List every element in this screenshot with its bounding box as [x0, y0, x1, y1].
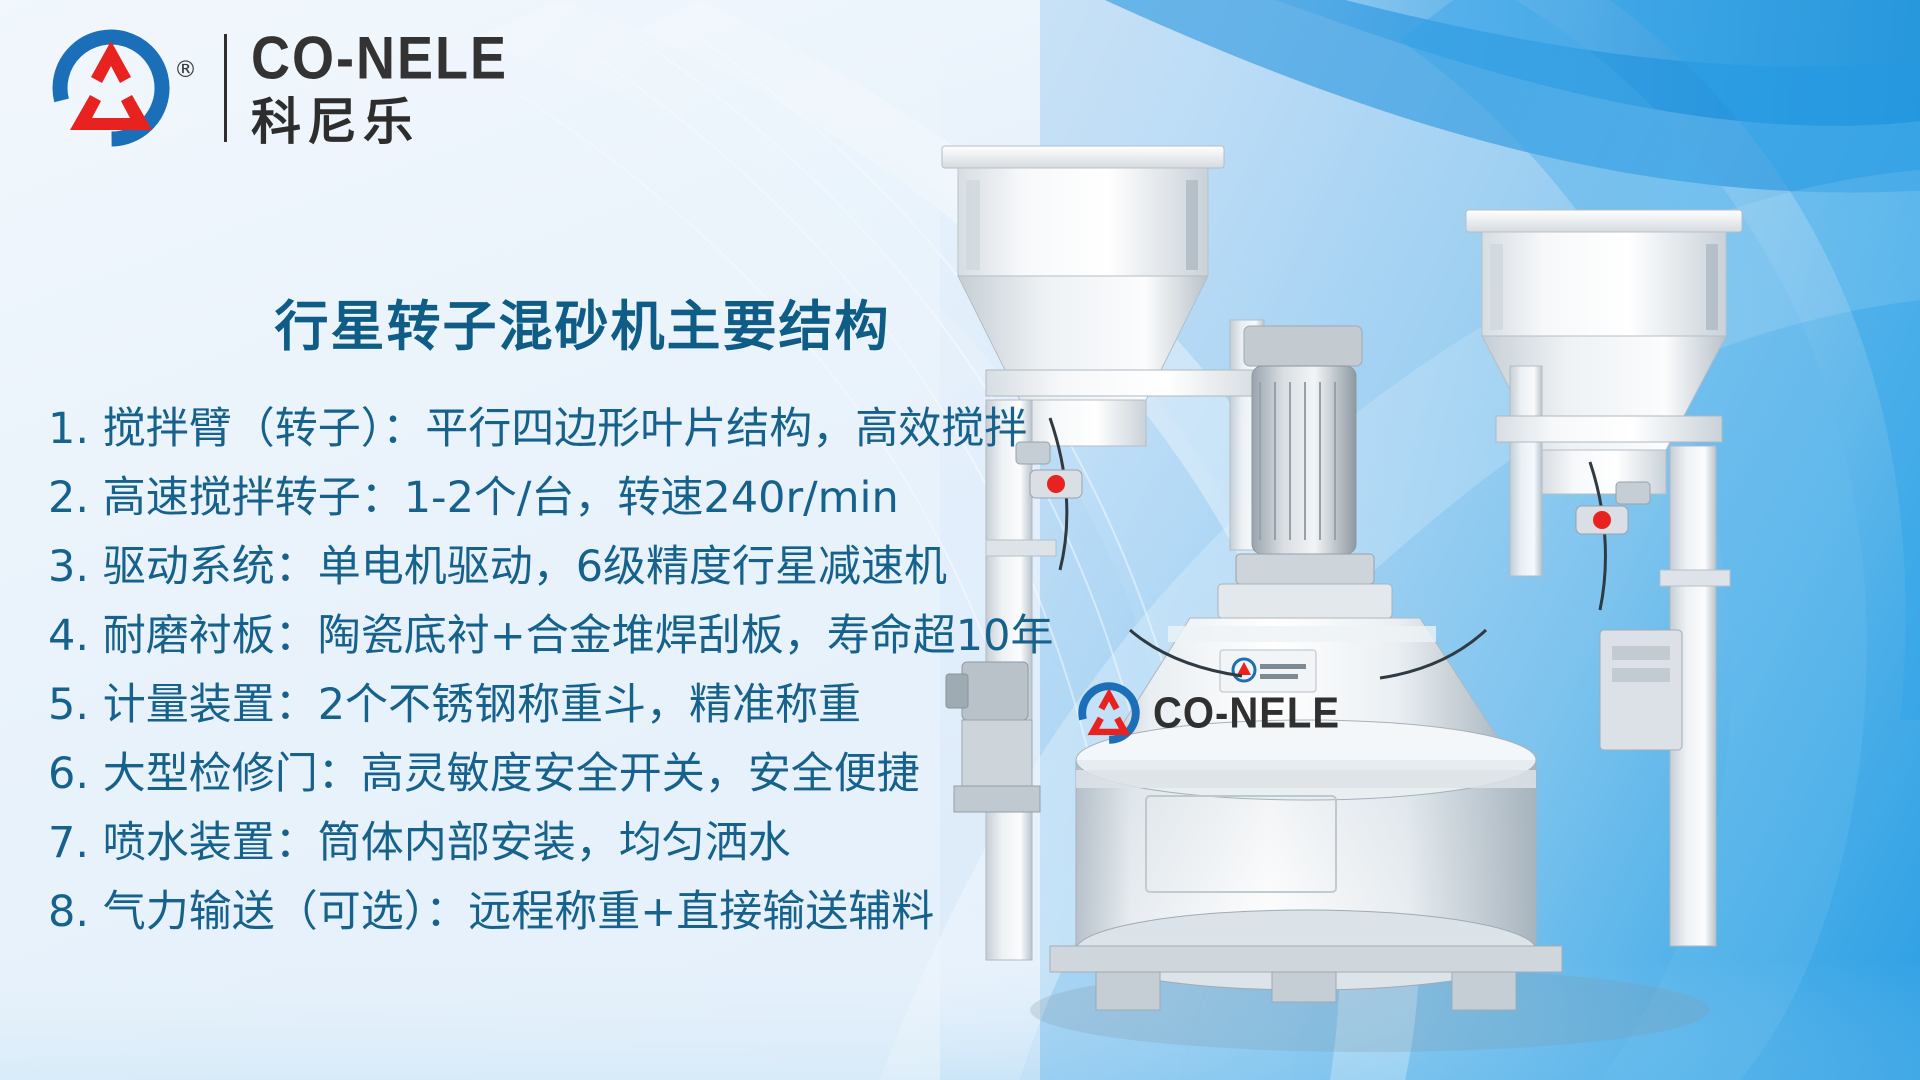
right-control-box: [1600, 630, 1682, 750]
brand-divider: [224, 34, 227, 142]
page-title: 行星转子混砂机主要结构: [0, 282, 1165, 361]
machine-base: [1050, 946, 1562, 1010]
poster-canvas: ® CO-NELE 科尼乐: [0, 0, 1920, 1080]
spec-list-item-5: 5. 计量装置：2个不锈钢称重斗，精准称重: [48, 671, 1168, 740]
brand-logo: ® CO-NELE 科尼乐: [52, 28, 508, 149]
spec-list-item-7: 7. 喷水装置：筒体内部安装，均匀洒水: [48, 809, 1168, 878]
spec-list-item-8: 8. 气力输送（可选）：远程称重+直接输送辅料: [48, 878, 1168, 947]
brand-name-cn: 科尼乐: [251, 96, 508, 149]
registered-trademark-icon: ®: [174, 59, 197, 82]
spec-list-item-4: 4. 耐磨衬板：陶瓷底衬+合金堆焊刮板，寿命超10年: [48, 602, 1168, 671]
spec-list-item-1: 1. 搅拌臂（转子）：平行四边形叶片结构，高效搅拌: [48, 395, 1168, 464]
spec-list-item-3: 3. 驱动系统：单电机驱动，6级精度行星减速机: [48, 533, 1168, 602]
spec-list-item-6: 6. 大型检修门：高灵敏度安全开关，安全便捷: [48, 740, 1168, 809]
brand-wordmark: CO-NELE 科尼乐: [251, 28, 508, 149]
conele-logo-icon: ®: [52, 29, 170, 147]
machine-body-brand-text: CO-NELE: [1153, 688, 1340, 738]
spec-list: 1. 搅拌臂（转子）：平行四边形叶片结构，高效搅拌 2. 高速搅拌转子：1-2个…: [48, 395, 1168, 947]
brand-name-en: CO-NELE: [251, 28, 508, 90]
spec-list-item-2: 2. 高速搅拌转子：1-2个/台，转速240r/min: [48, 464, 1168, 533]
